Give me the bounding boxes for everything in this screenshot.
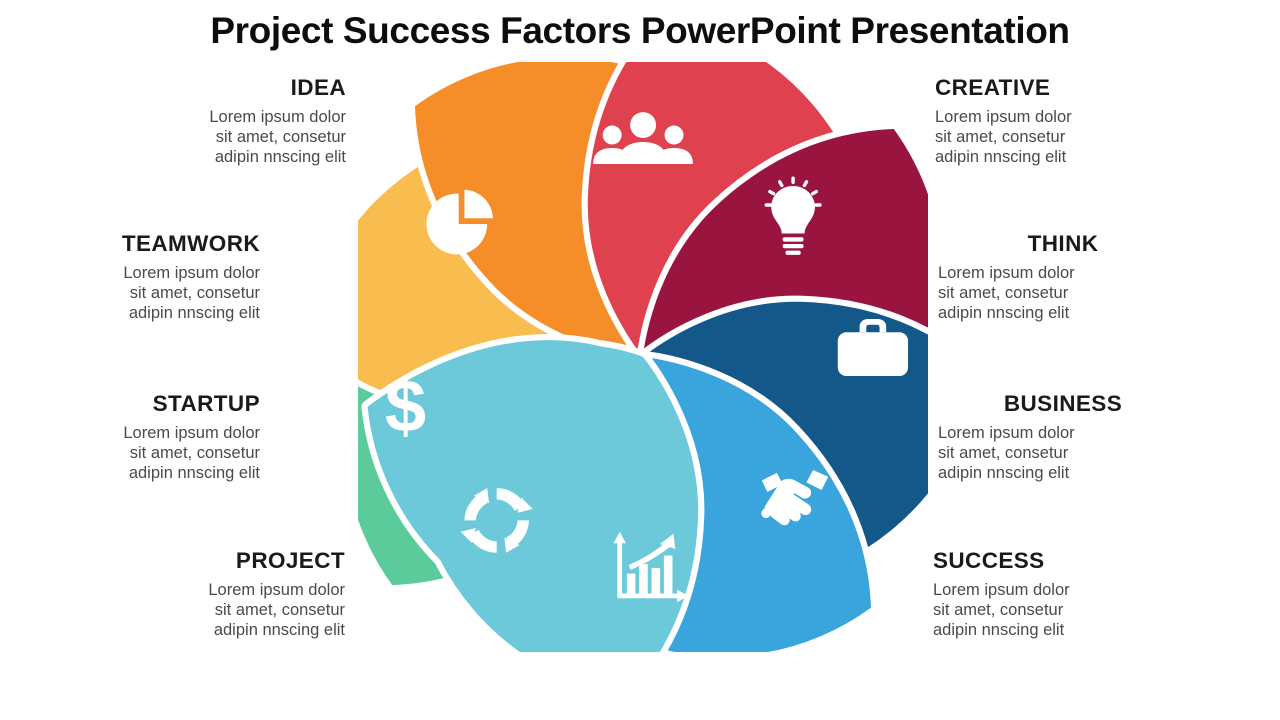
segment-body-line: Lorem ipsum dolor bbox=[10, 424, 260, 444]
segment-body-teamwork: Lorem ipsum dolor sit amet, consetur adi… bbox=[10, 264, 260, 324]
pinwheel-svg: $ bbox=[358, 62, 928, 652]
segment-label-business[interactable]: BUSINESS Lorem ipsum dolor sit amet, con… bbox=[938, 392, 1188, 484]
segment-title-startup: STARTUP bbox=[10, 392, 260, 417]
page-title: Project Success Factors PowerPoint Prese… bbox=[0, 10, 1280, 52]
segment-label-project[interactable]: PROJECT Lorem ipsum dolor sit amet, cons… bbox=[95, 549, 345, 641]
segment-title-creative: CREATIVE bbox=[935, 76, 1185, 101]
segment-title-teamwork: TEAMWORK bbox=[10, 232, 260, 257]
segment-body-success: Lorem ipsum dolor sit amet, consetur adi… bbox=[933, 581, 1183, 641]
segment-body-line: sit amet, consetur bbox=[933, 601, 1183, 621]
segment-body-project: Lorem ipsum dolor sit amet, consetur adi… bbox=[95, 581, 345, 641]
segment-body-line: adipin nnscing elit bbox=[938, 304, 1188, 324]
segment-body-line: adipin nnscing elit bbox=[938, 464, 1188, 484]
segment-body-line: Lorem ipsum dolor bbox=[933, 581, 1183, 601]
segment-body-line: Lorem ipsum dolor bbox=[935, 108, 1185, 128]
segment-body-line: Lorem ipsum dolor bbox=[938, 264, 1188, 284]
segment-body-line: Lorem ipsum dolor bbox=[10, 264, 260, 284]
segment-body-line: adipin nnscing elit bbox=[10, 304, 260, 324]
segment-body-creative: Lorem ipsum dolor sit amet, consetur adi… bbox=[935, 108, 1185, 168]
segment-body-line: sit amet, consetur bbox=[935, 128, 1185, 148]
segment-body-line: sit amet, consetur bbox=[95, 601, 345, 621]
segment-body-idea: Lorem ipsum dolor sit amet, consetur adi… bbox=[96, 108, 346, 168]
segment-label-success[interactable]: SUCCESS Lorem ipsum dolor sit amet, cons… bbox=[933, 549, 1183, 641]
segment-body-startup: Lorem ipsum dolor sit amet, consetur adi… bbox=[10, 424, 260, 484]
segment-body-line: sit amet, consetur bbox=[96, 128, 346, 148]
segment-body-line: adipin nnscing elit bbox=[96, 148, 346, 168]
segment-label-teamwork[interactable]: TEAMWORK Lorem ipsum dolor sit amet, con… bbox=[10, 232, 260, 324]
segment-label-think[interactable]: THINK Lorem ipsum dolor sit amet, conset… bbox=[938, 232, 1188, 324]
segment-body-line: adipin nnscing elit bbox=[10, 464, 260, 484]
segment-body-line: adipin nnscing elit bbox=[935, 148, 1185, 168]
segment-body-line: adipin nnscing elit bbox=[933, 621, 1183, 641]
segment-title-success: SUCCESS bbox=[933, 549, 1183, 574]
segment-body-think: Lorem ipsum dolor sit amet, consetur adi… bbox=[938, 264, 1188, 324]
segment-body-line: adipin nnscing elit bbox=[95, 621, 345, 641]
segment-label-startup[interactable]: STARTUP Lorem ipsum dolor sit amet, cons… bbox=[10, 392, 260, 484]
segment-body-line: Lorem ipsum dolor bbox=[96, 108, 346, 128]
segment-body-line: sit amet, consetur bbox=[938, 284, 1188, 304]
svg-text:$: $ bbox=[385, 365, 426, 448]
segment-body-line: Lorem ipsum dolor bbox=[95, 581, 345, 601]
segment-title-project: PROJECT bbox=[95, 549, 345, 574]
segment-body-line: sit amet, consetur bbox=[938, 444, 1188, 464]
segment-body-line: sit amet, consetur bbox=[10, 444, 260, 464]
segment-title-business: BUSINESS bbox=[938, 392, 1188, 417]
segment-title-think: THINK bbox=[938, 232, 1188, 257]
dollar-sign-icon: $ bbox=[385, 365, 426, 448]
segment-body-business: Lorem ipsum dolor sit amet, consetur adi… bbox=[938, 424, 1188, 484]
slide-canvas: Project Success Factors PowerPoint Prese… bbox=[0, 0, 1280, 720]
segment-label-creative[interactable]: CREATIVE Lorem ipsum dolor sit amet, con… bbox=[935, 76, 1185, 168]
segment-title-idea: IDEA bbox=[96, 76, 346, 101]
pinwheel-diagram: $ bbox=[358, 62, 928, 652]
segment-body-line: Lorem ipsum dolor bbox=[938, 424, 1188, 444]
segment-body-line: sit amet, consetur bbox=[10, 284, 260, 304]
segment-label-idea[interactable]: IDEA Lorem ipsum dolor sit amet, consetu… bbox=[96, 76, 346, 168]
